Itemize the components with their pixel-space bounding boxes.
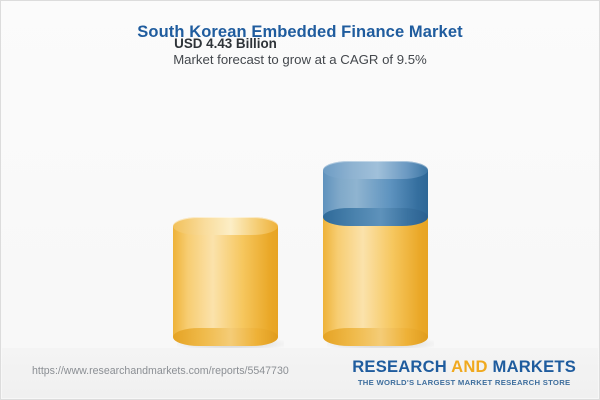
logo-wordmark: RESEARCH AND MARKETS <box>352 357 576 377</box>
chart-plot-area: USD 4.43 Billion 2026 USD 6.36 Billion <box>1 1 600 346</box>
cylinder-body-gold-2026 <box>173 226 278 337</box>
cylinder-bottom-ellipse-2030 <box>323 328 428 346</box>
logo-word-markets: MARKETS <box>488 357 576 376</box>
cylinder-body-gold-2030 <box>323 217 428 337</box>
cylinder-top-ellipse-2026 <box>173 217 278 235</box>
bar-2026[interactable]: USD 4.43 Billion 2026 <box>173 41 278 346</box>
report-url[interactable]: https://www.researchandmarkets.com/repor… <box>32 365 289 377</box>
cylinder-blue-top-ellipse-2030 <box>323 161 428 179</box>
logo-word-research: RESEARCH <box>352 357 451 376</box>
logo-word-and: AND <box>451 357 488 376</box>
infographic-card: South Korean Embedded Finance Market Mar… <box>0 0 600 400</box>
logo-tagline: THE WORLD'S LARGEST MARKET RESEARCH STOR… <box>352 378 576 387</box>
cylinder-bottom-ellipse-2026 <box>173 328 278 346</box>
cylinder-2030-base <box>323 217 428 346</box>
bar-2030[interactable]: USD 6.36 Billion 2030 <box>323 41 428 346</box>
bar-value-label-2026: USD 4.43 Billion <box>174 36 277 51</box>
cylinder-2030-growth <box>323 161 428 217</box>
brand-logo[interactable]: RESEARCH AND MARKETS THE WORLD'S LARGEST… <box>352 357 576 387</box>
footer-bar: https://www.researchandmarkets.com/repor… <box>2 348 598 398</box>
cylinder-2026-base <box>173 217 278 346</box>
cylinder-blue-bottom-ellipse-2030 <box>323 208 428 226</box>
